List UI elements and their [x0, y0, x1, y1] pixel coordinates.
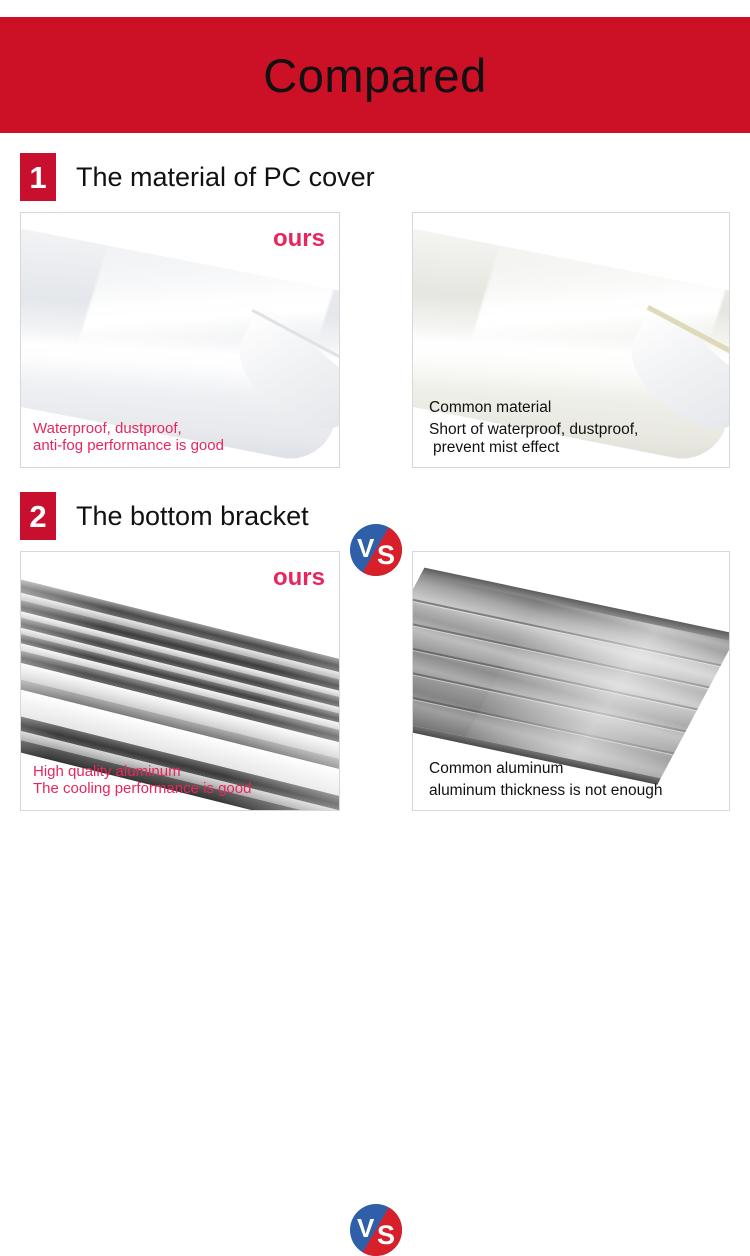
common-caption-1: Common material Short of waterproof, dus… — [429, 399, 638, 457]
section-number-badge-1: 1 — [20, 153, 56, 201]
vs-letter-v-2: V — [357, 1215, 374, 1241]
common-caption-2: Common aluminum aluminum thickness is no… — [429, 760, 663, 800]
section-number-badge-2: 2 — [20, 492, 56, 540]
common-card-1: Common material Short of waterproof, dus… — [412, 212, 730, 468]
vs-badge-1: V S — [350, 524, 402, 576]
vs-letter-s-1: S — [377, 542, 395, 569]
common-caption-1-line2: prevent mist effect — [429, 439, 638, 457]
common-caption-2-line1: aluminum thickness is not enough — [429, 782, 663, 799]
ours-caption-2: High quality aluminum The cooling perfor… — [33, 763, 251, 798]
common-caption-2-lead: Common aluminum — [429, 760, 663, 778]
vs-letter-s-2: S — [377, 1222, 395, 1249]
common-caption-1-lead: Common material — [429, 399, 638, 417]
section-title-1: The material of PC cover — [76, 164, 375, 191]
ours-caption-2-line1: High quality aluminum — [33, 763, 251, 781]
vs-badge-2: V S — [350, 1204, 402, 1256]
ours-card-2: ours High quality aluminum The cooling p… — [20, 551, 340, 811]
ours-caption-1-line1: Waterproof, dustproof, — [33, 420, 224, 438]
common-caption-1-line1: Short of waterproof, dustproof, — [429, 421, 638, 438]
ours-caption-1-line2: anti-fog performance is good — [33, 437, 224, 455]
page-title: Compared — [263, 52, 486, 99]
section-heading-1: 1 The material of PC cover — [20, 153, 375, 201]
section-heading-2: 2 The bottom bracket — [20, 492, 309, 540]
comparison-row-1: ours Waterproof, dustproof, anti-fog per… — [0, 212, 750, 468]
common-caption-2-sub: aluminum thickness is not enough — [429, 782, 663, 800]
comparison-row-2: ours High quality aluminum The cooling p… — [0, 551, 750, 811]
vs-letter-v-1: V — [357, 535, 374, 561]
ours-card-1: ours Waterproof, dustproof, anti-fog per… — [20, 212, 340, 468]
ours-label-1: ours — [273, 227, 325, 251]
section-title-2: The bottom bracket — [76, 503, 309, 530]
header-banner: Compared — [0, 17, 750, 133]
common-caption-1-sub: Short of waterproof, dustproof, prevent … — [429, 421, 638, 457]
ours-caption-1: Waterproof, dustproof, anti-fog performa… — [33, 420, 224, 455]
ours-label-2: ours — [273, 566, 325, 590]
ours-caption-2-line2: The cooling performance is good — [33, 780, 251, 798]
common-card-2: Common aluminum aluminum thickness is no… — [412, 551, 730, 811]
